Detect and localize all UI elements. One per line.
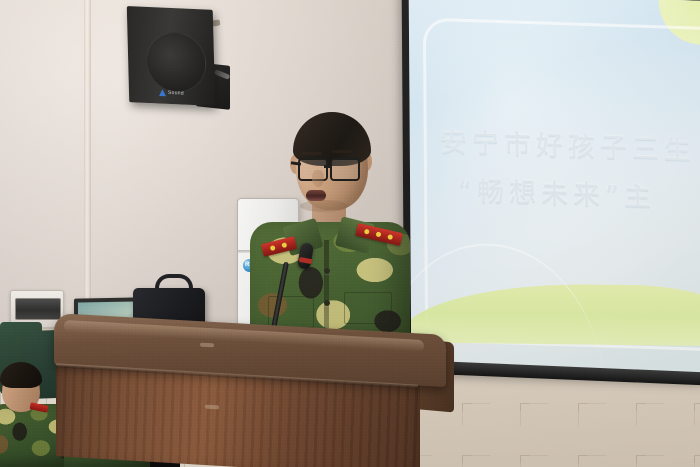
wall-mounted-loudspeaker: Sound [127,6,215,106]
presenter-eyebrow-left [300,152,322,155]
lectern-surface-mark [205,405,219,410]
uniform-button [324,300,330,306]
photo-scene: 安宁市好孩子三生 “畅想未来”主 Sound R [0,0,700,467]
uniform-button [324,268,330,274]
refrigerator-logo-letter: R [245,262,249,268]
presenter-chest-pocket-right [344,292,392,324]
speaker-logo-mark-icon [159,89,166,96]
speaker-cone [145,31,207,94]
eyeglasses-bridge [324,165,332,168]
presenter-nose [312,170,324,187]
eyeglasses-lens-right [330,158,360,181]
epaulette-star [281,242,287,248]
projector-screen[interactable]: 安宁市好孩子三生 “畅想未来”主 [409,0,700,373]
lectern-surface-mark [200,343,214,348]
presenter-chin-shadow [300,200,348,212]
slide-title-line-2: “畅想未来”主 [458,169,656,215]
breaker-box-window [15,298,61,320]
speaker-brand-logo: Sound [159,88,199,98]
speaker-brand-text: Sound [168,90,184,97]
presenter-eyebrow-right [332,150,353,153]
screen-glare [409,0,694,101]
epaulette-star [364,229,370,235]
wall-conduit-pipe [84,0,91,330]
epaulette-star [387,234,393,240]
epaulette-star [376,231,382,237]
epaulette-star [270,245,276,251]
